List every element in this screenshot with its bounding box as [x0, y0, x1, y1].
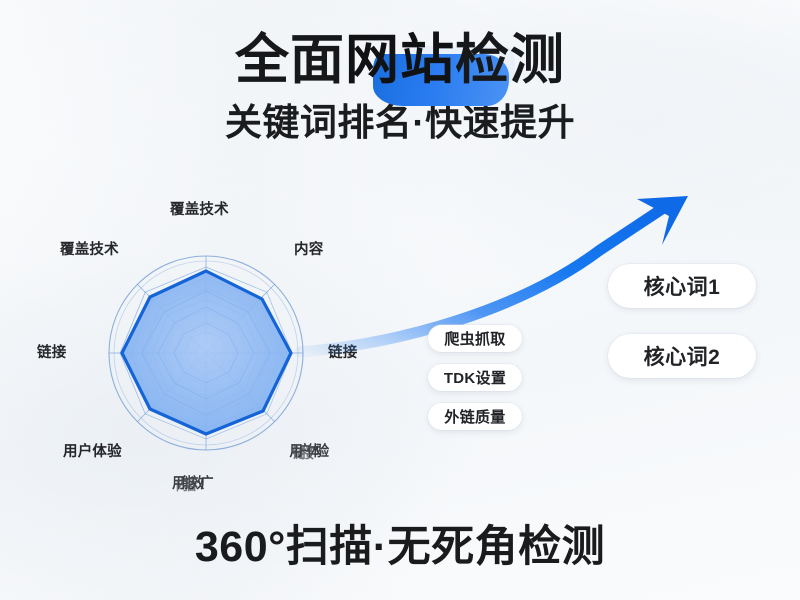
radar-label-right: 链接 [328, 346, 357, 361]
keyword-pill-2[interactable]: 核心词2 [608, 334, 756, 378]
page-title: 全面网站检测 [235, 32, 565, 89]
growth-arrow-head [637, 196, 688, 245]
radar-chart: 覆盖技术 内容 链接 用户体验 链接 用能效广 内容 用户体验 链接 覆盖技术 [40, 195, 380, 525]
radar-data-polygon [122, 271, 291, 434]
keyword-pill-1-label: 核心词1 [644, 271, 721, 301]
feature-pill-crawl-label: 爬虫抓取 [444, 328, 505, 349]
radar-label-top: 覆盖技术 [170, 203, 229, 218]
feature-pill-backlink[interactable]: 外链质量 [428, 403, 522, 430]
page-subtitle: 关键词排名·快速提升 [0, 103, 800, 144]
poster-canvas: 全面网站检测 关键词排名·快速提升 [0, 0, 800, 600]
keyword-pill-2-label: 核心词2 [644, 341, 721, 371]
title-trail: 检测 [455, 30, 565, 90]
title-highlight-text: 网站 [345, 30, 455, 90]
radar-label-bottom-echo: 内容 [176, 479, 196, 494]
feature-pill-tdk[interactable]: TDK设置 [428, 364, 522, 391]
radar-label-bottom-right-echo: 链接 [292, 447, 311, 462]
title-lead: 全面 [235, 30, 345, 90]
bottom-headline: 360°扫描·无死角检测 [0, 512, 800, 574]
feature-pill-backlink-label: 外链质量 [444, 406, 505, 427]
radar-label-top-left: 覆盖技术 [60, 243, 119, 258]
radar-label-bottom-left: 用户体验 [63, 445, 122, 460]
title-block: 全面网站检测 关键词排名·快速提升 [0, 32, 800, 143]
radar-label-left: 链接 [37, 346, 66, 361]
feature-pill-crawl[interactable]: 爬虫抓取 [428, 325, 522, 352]
feature-pill-tdk-label: TDK设置 [444, 367, 506, 388]
radar-label-top-right: 内容 [294, 243, 323, 258]
keyword-pill-1[interactable]: 核心词1 [608, 264, 756, 308]
